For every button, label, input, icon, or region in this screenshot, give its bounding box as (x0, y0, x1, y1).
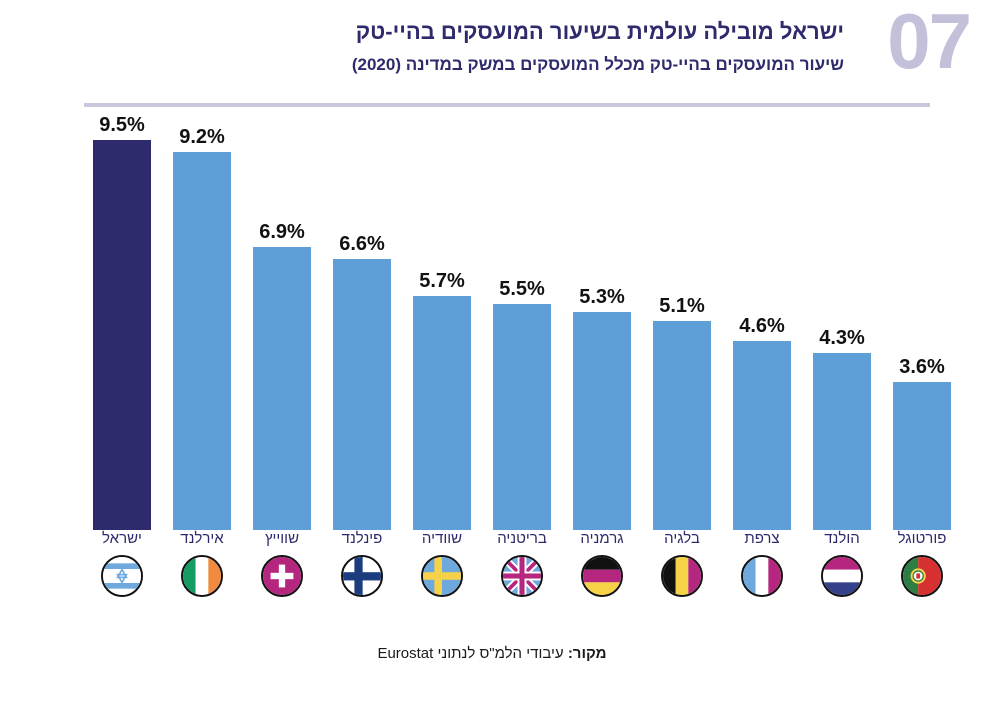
bar-value-label: 5.1% (641, 295, 723, 318)
x-axis-tick-label: פורטוגל (883, 530, 961, 550)
x-axis-tick: שוודיה (403, 530, 481, 597)
bar (893, 382, 951, 530)
x-axis-tick-label: פינלנד (323, 530, 401, 550)
x-axis-tick: ישראל (83, 530, 161, 597)
sweden-flag-icon (421, 555, 463, 597)
bar (733, 341, 791, 530)
bar-value-label: 4.6% (721, 315, 803, 338)
bar (813, 353, 871, 530)
bar (93, 140, 151, 530)
portugal-flag-icon (901, 555, 943, 597)
bar-column: 4.3% (813, 140, 871, 530)
page-subtitle: שיעור המועסקים בהיי-טק מכלל המועסקים במש… (40, 54, 844, 75)
bar-column: 6.9% (253, 140, 311, 530)
x-axis-tick-label: בריטניה (483, 530, 561, 550)
x-axis-tick-label: בלגיה (643, 530, 721, 550)
x-axis-tick-label: אירלנד (163, 530, 241, 550)
bar-column: 5.7% (413, 140, 471, 530)
bar (413, 296, 471, 530)
x-axis-tick: שווייץ (243, 530, 321, 597)
bar-value-label: 9.5% (81, 114, 163, 137)
bar (573, 312, 631, 530)
netherlands-flag-icon (821, 555, 863, 597)
france-flag-icon (741, 555, 783, 597)
header-divider (84, 103, 930, 107)
x-axis-tick-label: שווייץ (243, 530, 321, 550)
x-axis-tick-label: הולנד (803, 530, 881, 550)
bar (493, 304, 551, 530)
x-axis-tick-group: ישראל אירלנד שווייץ פינלנד שוודיה בריטני… (84, 530, 964, 625)
germany-flag-icon (581, 555, 623, 597)
bar-column: 5.5% (493, 140, 551, 530)
bar (173, 152, 231, 530)
bar-value-label: 5.5% (481, 278, 563, 301)
source-note: מקור: עיבודי הלמ"ס לנתוני Eurostat (0, 645, 984, 662)
bar (653, 321, 711, 530)
x-axis-tick: הולנד (803, 530, 881, 597)
bar (253, 247, 311, 530)
bar-value-label: 9.2% (161, 126, 243, 149)
bar-value-label: 6.9% (241, 221, 323, 244)
x-axis-tick-label: שוודיה (403, 530, 481, 550)
bar-column: 9.5% (93, 140, 151, 530)
x-axis-tick-label: ישראל (83, 530, 161, 550)
x-axis-tick: פורטוגל (883, 530, 961, 597)
x-axis-tick: צרפת (723, 530, 801, 597)
source-text: עיבודי הלמ"ס לנתוני Eurostat (377, 645, 563, 662)
bar-value-label: 4.3% (801, 327, 883, 350)
x-axis-tick-label: צרפת (723, 530, 801, 550)
bar-chart-plot-area: 9.5%9.2%6.9%6.6%5.7%5.5%5.3%5.1%4.6%4.3%… (84, 140, 964, 530)
bar-column: 3.6% (893, 140, 951, 530)
x-axis-tick: בלגיה (643, 530, 721, 597)
section-number: 07 (887, 2, 970, 80)
bar-value-label: 5.7% (401, 270, 483, 293)
united-kingdom-flag-icon (501, 555, 543, 597)
belgium-flag-icon (661, 555, 703, 597)
bar-column: 5.3% (573, 140, 631, 530)
x-axis-tick: פינלנד (323, 530, 401, 597)
x-axis-tick: אירלנד (163, 530, 241, 597)
bar-value-label: 5.3% (561, 286, 643, 309)
bar-value-label: 6.6% (321, 233, 403, 256)
page-title: ישראל מובילה עולמית בשיעור המועסקים בהיי… (40, 18, 844, 46)
bar-column: 9.2% (173, 140, 231, 530)
bar (333, 259, 391, 530)
ireland-flag-icon (181, 555, 223, 597)
switzerland-flag-icon (261, 555, 303, 597)
bar-column: 5.1% (653, 140, 711, 530)
chart-header: 07 ישראל מובילה עולמית בשיעור המועסקים ב… (0, 0, 984, 116)
finland-flag-icon (341, 555, 383, 597)
bar-column: 6.6% (333, 140, 391, 530)
israel-flag-icon (101, 555, 143, 597)
source-label: מקור: (568, 645, 607, 662)
title-block: ישראל מובילה עולמית בשיעור המועסקים בהיי… (40, 18, 844, 75)
x-axis-tick-label: גרמניה (563, 530, 641, 550)
bar-column: 4.6% (733, 140, 791, 530)
x-axis-tick: גרמניה (563, 530, 641, 597)
bar-value-label: 3.6% (881, 356, 963, 379)
x-axis-tick: בריטניה (483, 530, 561, 597)
